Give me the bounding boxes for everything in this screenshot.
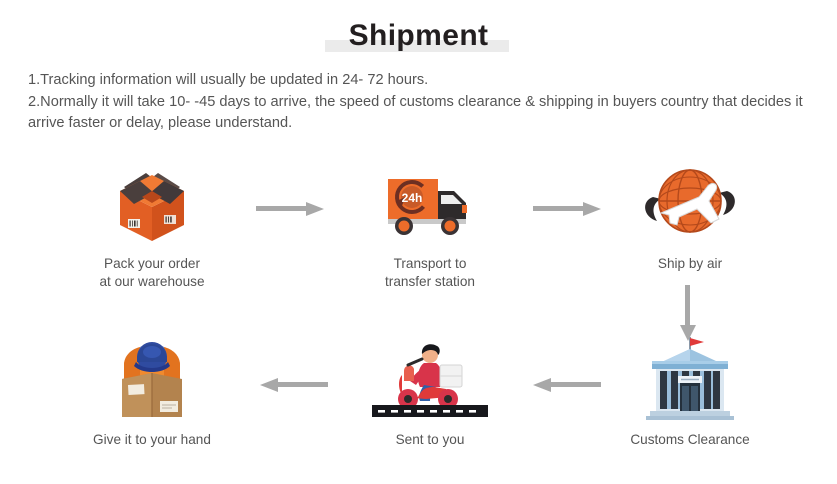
step-caption-line-1: Sent to you [335, 431, 525, 449]
step-caption: Transport to transfer station [335, 255, 525, 291]
government-building-icon [595, 333, 785, 421]
shipment-infographic: Shipment 1.Tracking information will usu… [0, 0, 837, 484]
globe-airplane-icon [595, 157, 785, 245]
step-caption-line-2: at our warehouse [57, 273, 247, 291]
step-caption: Sent to you [335, 431, 525, 449]
arrow-sent-to-hand [260, 375, 328, 395]
step-caption: Pack your order at our warehouse [57, 255, 247, 291]
step-customs-clearance: Customs Clearance [595, 333, 785, 449]
page-title-container: Shipment [0, 18, 837, 54]
step-caption: Give it to your hand [57, 431, 247, 449]
shipping-notes: 1.Tracking information will usually be u… [28, 70, 818, 135]
arrow-air-to-customs [678, 285, 698, 341]
page-title: Shipment [349, 18, 489, 54]
step-caption-line-2: transfer station [335, 273, 525, 291]
truck-badge-label: 24h [402, 191, 423, 205]
step-ship-by-air: Ship by air [595, 157, 785, 273]
step-sent-to-you: Sent to you [335, 333, 525, 449]
step-give-to-hand: Give it to your hand [57, 333, 247, 449]
step-caption-line-1: Ship by air [595, 255, 785, 273]
step-caption: Ship by air [595, 255, 785, 273]
step-caption: Customs Clearance [595, 431, 785, 449]
arrow-transport-to-air [533, 199, 601, 219]
step-caption-line-1: Pack your order [57, 255, 247, 273]
scooter-courier-icon [335, 333, 525, 421]
note-line-2: 2.Normally it will take 10- -45 days to … [28, 92, 818, 135]
courier-holding-package-icon [57, 333, 247, 421]
open-cardboard-box-icon [57, 157, 247, 245]
step-caption-line-1: Customs Clearance [595, 431, 785, 449]
step-transport: 24h Transport to transfer station [335, 157, 525, 291]
delivery-truck-icon: 24h [335, 157, 525, 245]
arrow-customs-to-sent [533, 375, 601, 395]
arrow-pack-to-transport [256, 199, 324, 219]
note-line-1: 1.Tracking information will usually be u… [28, 70, 818, 92]
step-caption-line-1: Give it to your hand [57, 431, 247, 449]
step-caption-line-1: Transport to [335, 255, 525, 273]
step-pack-order: Pack your order at our warehouse [57, 157, 247, 291]
